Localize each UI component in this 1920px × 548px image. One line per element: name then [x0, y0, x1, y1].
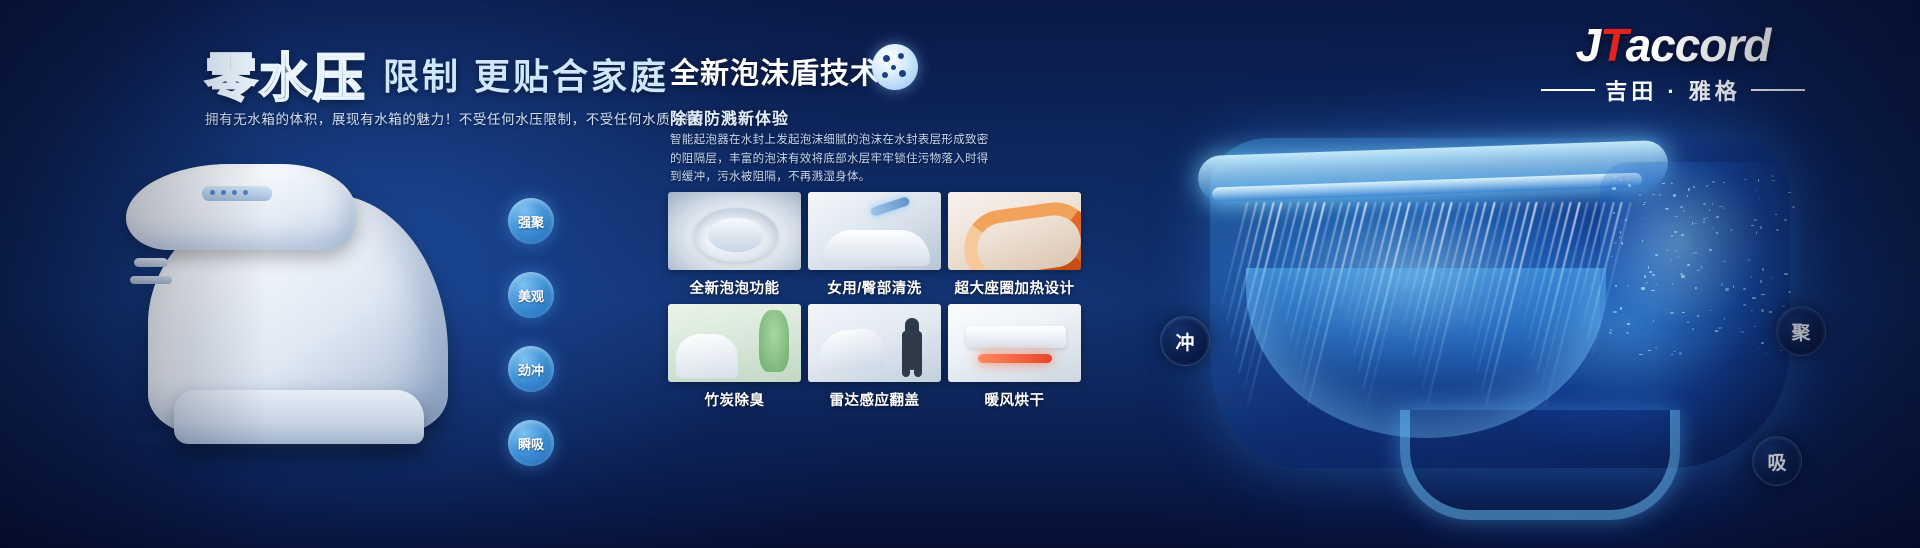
pill-qiangju[interactable]: 强聚 — [508, 198, 554, 244]
toilet-lid — [126, 164, 356, 250]
logo-letter-j: J — [1576, 19, 1601, 71]
left-subline: 拥有无水箱的体积，展现有水箱的魅力！不受任何水压限制，不受任何水质限制！ — [205, 108, 713, 128]
feature-card[interactable]: 女用/臀部清洗 — [808, 192, 941, 298]
badge-chong[interactable]: 冲 — [1160, 316, 1210, 366]
feature-card[interactable]: 暖风烘干 — [948, 304, 1081, 410]
pill-meiguan[interactable]: 美观 — [508, 272, 554, 318]
brand-logo-chinese-text: 吉田 · 雅格 — [1605, 74, 1741, 106]
feature-caption: 雷达感应翻盖 — [808, 389, 941, 410]
toilet-side-button-secondary — [130, 276, 172, 284]
foam-bubbles-icon — [872, 44, 918, 90]
toilet-base — [174, 390, 424, 444]
radar-sensor-lid-photo — [808, 304, 941, 382]
pill-jingchong[interactable]: 劲冲 — [508, 346, 554, 392]
middle-paragraph: 智能起泡器在水封上发起泡沫细腻的泡沫在水封表层形成致密的阻隔层，丰富的泡沫有效将… — [670, 131, 1000, 187]
bamboo-charcoal-deodorize-photo — [668, 304, 801, 382]
feature-row-1: 全新泡泡功能 女用/臀部清洗 超大座圈加热设计 — [668, 192, 1082, 298]
toilet-indicator-dots — [210, 190, 248, 195]
pill-shunxi[interactable]: 瞬吸 — [508, 420, 554, 466]
right-section: JTaccord 吉田 · 雅格 冲 聚 吸 — [1130, 0, 1920, 548]
feature-card[interactable]: 竹炭除臭 — [668, 304, 801, 410]
feature-card[interactable]: 雷达感应翻盖 — [808, 304, 941, 410]
smart-toilet-icon — [90, 130, 490, 460]
headline: 零水压限制 更贴合家庭 — [205, 36, 669, 111]
feature-pill-list: 强聚 美观 劲冲 瞬吸 — [508, 198, 554, 494]
toilet-side-button — [134, 258, 168, 267]
feature-card[interactable]: 全新泡泡功能 — [668, 192, 801, 298]
feature-caption: 全新泡泡功能 — [668, 277, 801, 298]
feature-grid: 全新泡泡功能 女用/臀部清洗 超大座圈加热设计 竹炭除臭 雷 — [668, 192, 1082, 416]
middle-subtitle: 除菌防溅新体验 — [670, 105, 789, 129]
brand-logo-chinese: 吉田 · 雅格 — [1508, 74, 1838, 106]
feature-row-2: 竹炭除臭 雷达感应翻盖 暖风烘干 — [668, 304, 1082, 410]
toilet-xray-cutaway: 冲 聚 吸 — [1150, 118, 1840, 538]
warm-air-dryer-photo — [948, 304, 1081, 382]
toilet-bowl-foam-photo — [668, 192, 801, 270]
feature-caption: 女用/臀部清洗 — [808, 277, 941, 298]
brand-logo-latin: JTaccord — [1508, 22, 1838, 68]
badge-xi[interactable]: 吸 — [1752, 436, 1802, 486]
feature-card[interactable]: 超大座圈加热设计 — [948, 192, 1081, 298]
feature-caption: 超大座圈加热设计 — [948, 277, 1081, 298]
middle-section: 全新泡沫盾技术 除菌防溅新体验 智能起泡器在水封上发起泡沫细腻的泡沫在水封表层形… — [660, 0, 1110, 548]
xray-spray-particles — [1608, 174, 1794, 354]
brand-logo[interactable]: JTaccord 吉田 · 雅格 — [1508, 22, 1838, 106]
feature-caption: 暖风烘干 — [948, 389, 1081, 410]
left-section: 零水压限制 更贴合家庭 拥有无水箱的体积，展现有水箱的魅力！不受任何水压限制，不… — [0, 0, 640, 548]
heated-seat-ring-photo — [948, 192, 1081, 270]
logo-rule-left — [1541, 89, 1595, 91]
headline-primary: 零水压 — [205, 36, 367, 111]
logo-word-accord: accord — [1626, 19, 1771, 71]
logo-letter-t: T — [1600, 19, 1625, 71]
feature-caption: 竹炭除臭 — [668, 389, 801, 410]
headline-secondary: 限制 更贴合家庭 — [383, 48, 669, 100]
xray-trapway — [1400, 410, 1680, 520]
spray-nozzle-photo — [808, 192, 941, 270]
promo-banner: 零水压限制 更贴合家庭 拥有无水箱的体积，展现有水箱的魅力！不受任何水压限制，不… — [0, 0, 1920, 548]
middle-title: 全新泡沫盾技术 — [670, 50, 880, 92]
badge-ju[interactable]: 聚 — [1776, 306, 1826, 356]
logo-rule-right — [1751, 89, 1805, 91]
